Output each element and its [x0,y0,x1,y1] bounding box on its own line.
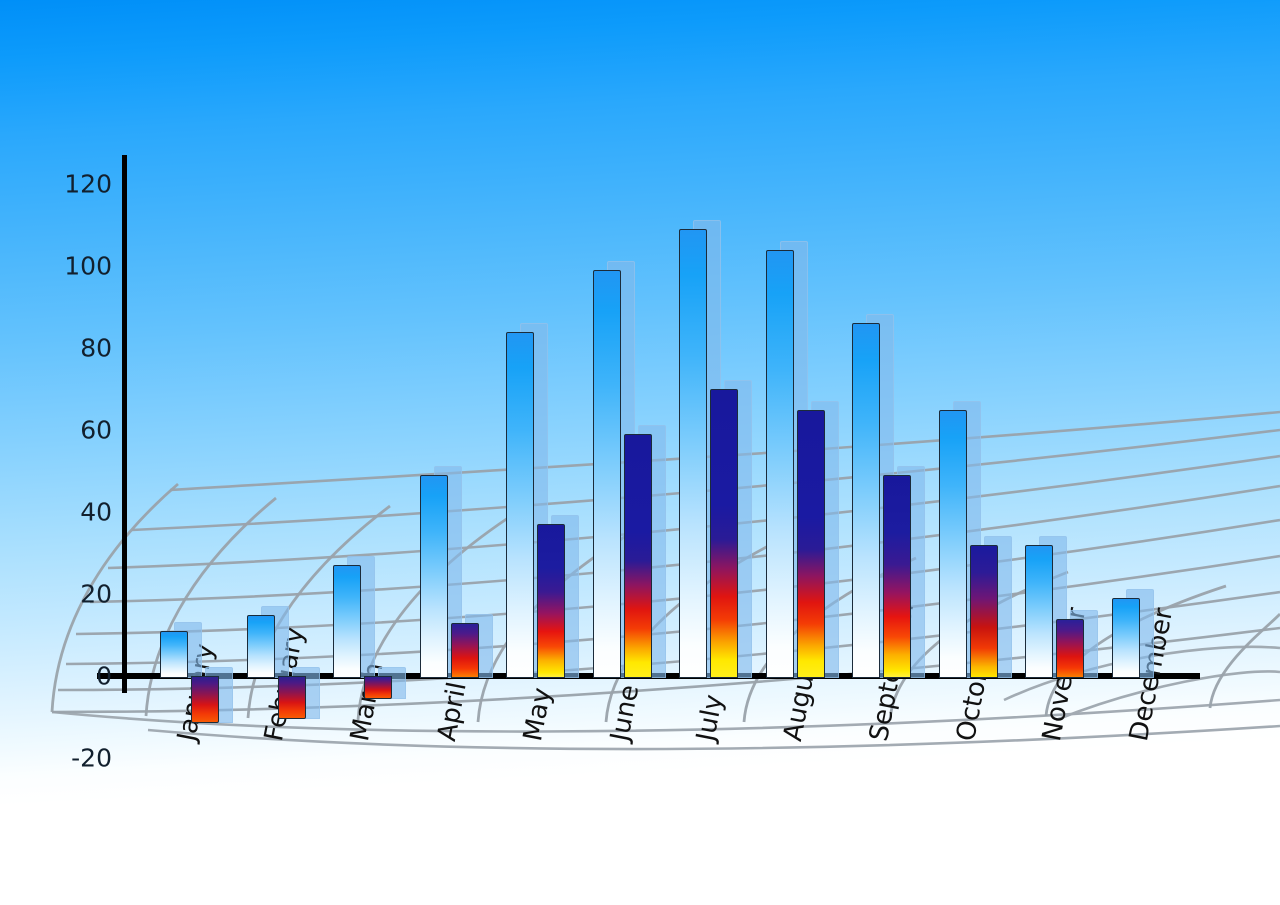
bar-series1-february[interactable] [247,615,273,677]
bar-series1-september[interactable] [852,323,878,676]
bar-face [797,410,825,679]
y-axis-tick-label: 100 [64,252,112,281]
bar-face [420,475,448,678]
bar-face [939,410,967,679]
bar-face [451,623,479,678]
bar-face [160,631,188,678]
y-axis-tick-label: -20 [71,744,112,773]
bar-series1-august[interactable] [766,250,792,676]
bar-series2-march[interactable] [364,676,390,697]
bar-series1-march[interactable] [333,565,359,676]
bar-series2-november[interactable] [1056,619,1082,676]
bar-face [1056,619,1084,678]
y-axis-tick-label: 80 [80,334,112,363]
bar-face [624,434,652,678]
x-axis-label-may: May [518,685,558,744]
bar-series2-january[interactable] [191,676,217,721]
bar-face [537,524,565,678]
bar-series1-january[interactable] [160,631,186,676]
bar-series2-february[interactable] [278,676,304,717]
y-axis-tick-label: 40 [80,498,112,527]
bar-face [506,332,534,678]
bar-face [278,676,306,719]
bar-face [883,475,911,678]
y-axis-tick-label: 20 [80,580,112,609]
bar-series2-august[interactable] [797,410,823,677]
bar-series1-april[interactable] [420,475,446,676]
bar-series2-june[interactable] [624,434,650,676]
bar-face [333,565,361,678]
bar-face [191,676,219,723]
y-axis-line [122,155,127,693]
bar-series1-july[interactable] [679,229,705,676]
bar-face [364,676,392,699]
bar-series2-may[interactable] [537,524,563,676]
bar-series2-april[interactable] [451,623,477,676]
bar-face [593,270,621,678]
x-axis-label-july: July [691,692,729,744]
y-axis-tick-label: 0 [96,662,112,691]
bar-chart: 120100806040200-20 JanuaryFebruaryMarchA… [0,0,1280,905]
x-axis-label-june: June [605,682,645,743]
bar-face [1112,598,1140,678]
plot-area: 120100806040200-20 JanuaryFebruaryMarchA… [0,0,1280,905]
bar-series1-december[interactable] [1112,598,1138,676]
bar-series1-may[interactable] [506,332,532,676]
bar-face [1025,545,1053,678]
x-axis-label-april: April [432,680,473,744]
bar-face [766,250,794,678]
y-axis-tick-label: 120 [64,170,112,199]
bar-series1-november[interactable] [1025,545,1051,676]
bar-series2-september[interactable] [883,475,909,676]
bar-face [970,545,998,678]
bar-series2-july[interactable] [710,389,736,676]
bar-face [247,615,275,679]
bar-face [679,229,707,678]
y-axis-tick-label: 60 [80,416,112,445]
bar-series1-october[interactable] [939,410,965,677]
bar-face [710,389,738,678]
bar-series2-october[interactable] [970,545,996,676]
bar-face [852,323,880,678]
bar-series1-june[interactable] [593,270,619,676]
